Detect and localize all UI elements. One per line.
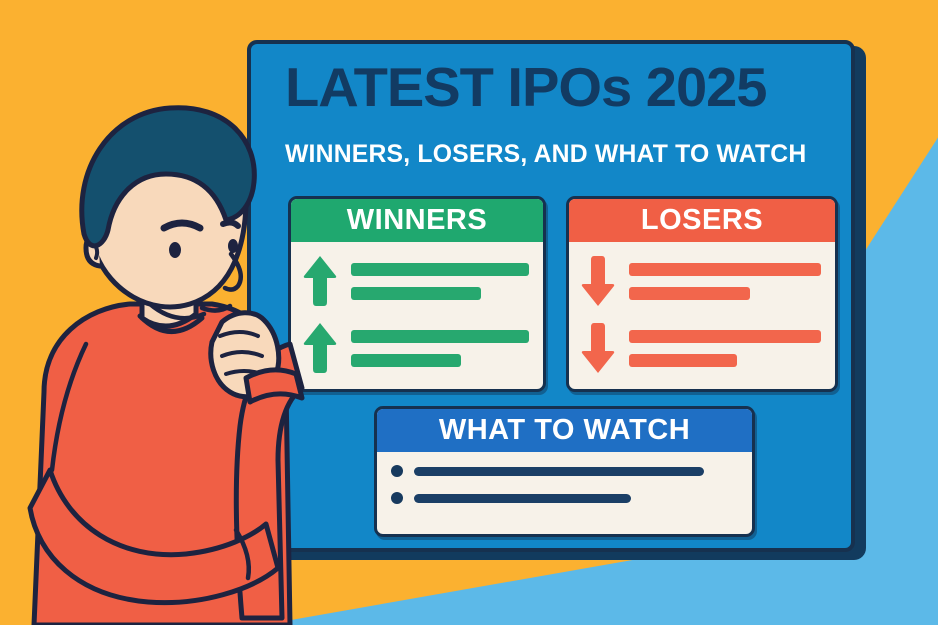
arrow-down-icon (581, 321, 615, 375)
bullet-dot-icon (391, 465, 403, 477)
watch-list-item (391, 465, 736, 477)
losers-entry-row (581, 321, 821, 375)
losers-bar-group (629, 330, 821, 367)
losers-placeholder-bar (629, 354, 737, 367)
thinking-businessman-illustration (0, 78, 320, 625)
presentation-board: LATEST IPOs 2025 WINNERS, LOSERS, AND WH… (247, 40, 855, 552)
character-eye-far (228, 239, 238, 253)
winners-bar-group (351, 330, 529, 367)
watch-placeholder-bar (414, 494, 631, 503)
winners-bar-group (351, 263, 529, 300)
character-eye (169, 242, 181, 258)
winners-placeholder-bar (351, 354, 461, 367)
what-to-watch-card[interactable]: WHAT TO WATCH (374, 406, 755, 537)
winners-placeholder-bar (351, 330, 529, 343)
board-subtitle: WINNERS, LOSERS, AND WHAT TO WATCH (285, 142, 806, 167)
character-eyebrow-far (223, 222, 238, 226)
winners-entry-row (303, 321, 529, 375)
what-to-watch-card-header: WHAT TO WATCH (377, 409, 752, 452)
losers-card-header: LOSERS (569, 199, 835, 242)
winners-card[interactable]: WINNERS (288, 196, 546, 392)
watch-placeholder-bar (414, 467, 704, 476)
board-title: LATEST IPOs 2025 (285, 60, 766, 115)
losers-card[interactable]: LOSERS (566, 196, 838, 392)
bullet-dot-icon (391, 492, 403, 504)
losers-placeholder-bar (629, 330, 821, 343)
winners-card-body (291, 242, 543, 387)
losers-card-body (569, 242, 835, 387)
winners-card-header: WINNERS (291, 199, 543, 242)
losers-entry-row (581, 254, 821, 308)
winners-placeholder-bar (351, 287, 481, 300)
watch-list-item (391, 492, 736, 504)
winners-placeholder-bar (351, 263, 529, 276)
losers-bar-group (629, 263, 821, 300)
losers-placeholder-bar (629, 263, 821, 276)
losers-placeholder-bar (629, 287, 750, 300)
arrow-down-icon (581, 254, 615, 308)
infographic-scene: LATEST IPOs 2025 WINNERS, LOSERS, AND WH… (0, 0, 938, 625)
what-to-watch-card-body (377, 452, 752, 516)
winners-entry-row (303, 254, 529, 308)
